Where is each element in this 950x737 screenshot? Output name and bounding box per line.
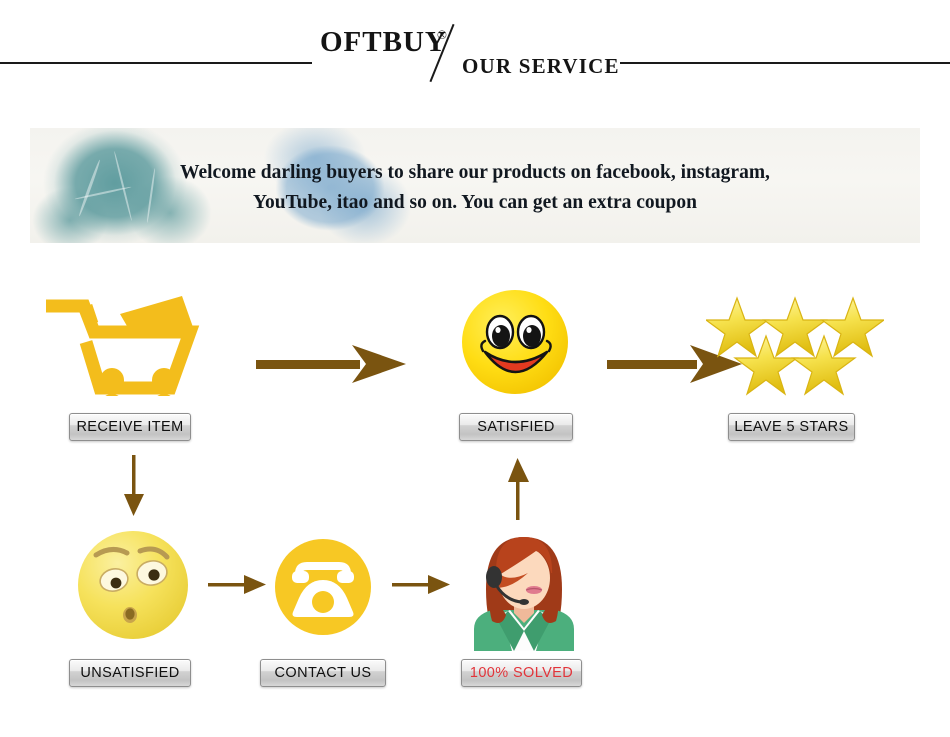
label-satisfied[interactable]: SATISFIED — [459, 413, 573, 441]
arrow-unsatisfied-to-contact — [208, 575, 266, 594]
label-leave-5-stars[interactable]: LEAVE 5 STARS — [728, 413, 855, 441]
coupon-message: Share the picture in the feedback, in ex… — [697, 563, 852, 659]
coupon-inner-frame: Share the picture in the feedback, in ex… — [682, 526, 866, 696]
label-receive-item[interactable]: RECEIVE ITEM — [69, 413, 191, 441]
service-flow-diagram: RECEIVE ITEM SATISFIED — [0, 0, 950, 737]
arrow-receive-to-unsatisfied — [124, 455, 144, 516]
coupon-line-4: coupons. — [746, 639, 802, 655]
shopping-cart-icon — [42, 278, 202, 396]
support-agent-icon — [472, 533, 576, 651]
arrow-solved-to-satisfied — [508, 458, 529, 520]
coupon-line-1: Share the picture in — [711, 567, 838, 583]
label-100-percent-solved[interactable]: 100% SOLVED — [461, 659, 582, 687]
arrow-contact-to-solved — [392, 575, 450, 594]
coupon-line-3: exchange for — [733, 615, 815, 631]
coupon-line-2: the feedback, in — [723, 591, 824, 607]
telephone-icon — [273, 537, 373, 637]
label-unsatisfied[interactable]: UNSATISFIED — [69, 659, 191, 687]
label-contact-us[interactable]: CONTACT US — [260, 659, 386, 687]
smiley-happy-icon — [459, 288, 571, 396]
smiley-sad-icon — [74, 528, 192, 642]
five-stars-icon — [706, 292, 884, 396]
arrow-receive-to-satisfied — [256, 345, 406, 383]
coupon-callout-box: Share the picture in the feedback, in ex… — [668, 512, 880, 710]
